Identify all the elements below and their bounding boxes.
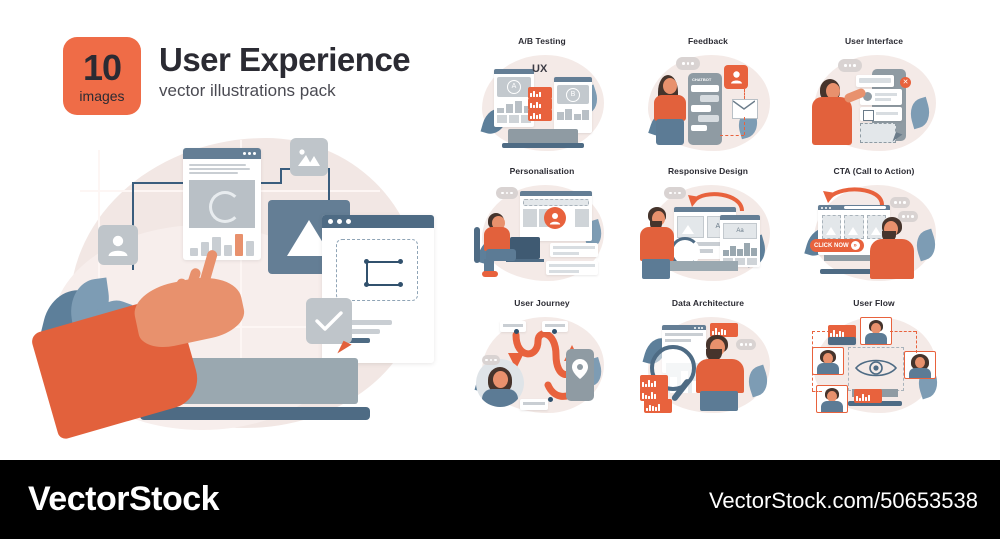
- tile-label: User Journey: [466, 298, 618, 308]
- journey-node-card: [500, 321, 526, 332]
- ux-label: UX: [532, 63, 547, 75]
- laptop-base: [140, 407, 370, 420]
- window-titlebar: [554, 77, 592, 82]
- tile-user-flow[interactable]: User Flow: [798, 298, 950, 420]
- tile-label: User Interface: [798, 36, 950, 46]
- tile-user-interface[interactable]: User Interface: [798, 36, 950, 158]
- person-torso: [640, 227, 674, 261]
- tile-label: Personalisation: [466, 166, 618, 176]
- data-chip: [854, 389, 882, 403]
- person-card: [904, 351, 936, 379]
- wireframe-connector: [366, 261, 400, 263]
- person-torso: [909, 368, 931, 379]
- window-titlebar: [494, 69, 534, 74]
- image-count-badge: 10 images: [63, 37, 141, 115]
- chat-bubble-icon: [482, 355, 500, 365]
- tile-artwork: [798, 313, 950, 417]
- flow-bar: [828, 337, 856, 345]
- connector-line: [812, 331, 813, 391]
- tile-cta[interactable]: CTA (Call to Action): [798, 166, 950, 288]
- person-card: [816, 385, 848, 413]
- person-torso: [696, 359, 744, 393]
- window-titlebar: [183, 148, 261, 159]
- tile-label: Feedback: [632, 36, 784, 46]
- tile-user-journey[interactable]: User Journey: [466, 298, 618, 420]
- chat-phone: CHATBOT: [688, 73, 722, 145]
- tile-responsive-design[interactable]: Responsive Design Aa: [632, 166, 784, 288]
- journey-node: [548, 397, 553, 402]
- tile-artwork: [466, 313, 618, 417]
- eye-icon: [854, 355, 898, 381]
- window-dots-icon: [328, 219, 351, 224]
- person-torso: [484, 227, 510, 251]
- connector-line: [744, 89, 745, 99]
- person-torso: [482, 389, 518, 407]
- window-titlebar: [674, 207, 736, 212]
- tile-artwork: ✕: [798, 51, 950, 155]
- image-icon: [290, 138, 328, 176]
- tile-ab-testing[interactable]: A/B Testing A: [466, 36, 618, 158]
- hero-illustration: [40, 130, 450, 440]
- wireframe-connector: [366, 284, 400, 286]
- ui-profile-row: [860, 89, 902, 105]
- connector-line: [890, 331, 916, 332]
- tile-artwork: CHATBOT: [632, 51, 784, 155]
- window-titlebar: [818, 205, 890, 210]
- chat-bubble-icon: [736, 339, 756, 350]
- person-torso: [817, 363, 839, 375]
- laptop-base: [502, 143, 584, 148]
- notification-card: [550, 243, 598, 257]
- page-subtitle: vector illustrations pack: [159, 81, 410, 101]
- tile-label: User Flow: [798, 298, 950, 308]
- chat-bubble-icon: [676, 57, 700, 70]
- refresh-icon: [209, 191, 241, 223]
- wireframe-node: [364, 259, 369, 264]
- wireframe-dashed-frame: [336, 239, 418, 301]
- chat-bubble-icon: [838, 59, 862, 72]
- tile-artwork: CLICK NOW »: [798, 181, 950, 285]
- hero-analytics-window: [183, 148, 261, 260]
- ui-input-row: [856, 75, 894, 87]
- person-torso: [865, 333, 887, 345]
- user-glyph: [107, 233, 129, 257]
- window-titlebar: [520, 191, 592, 196]
- window-titlebar: [720, 215, 760, 220]
- notification-card: [546, 261, 598, 275]
- window-titlebar: [662, 325, 706, 330]
- wireframe-node: [364, 282, 369, 287]
- person-head: [915, 357, 925, 368]
- badge-label: images: [79, 89, 124, 103]
- chatbot-title: CHATBOT: [688, 73, 722, 82]
- chat-bubble-icon: [898, 211, 918, 222]
- wireframe-node: [398, 282, 403, 287]
- person-head: [493, 371, 508, 388]
- wireframe-node: [398, 259, 403, 264]
- chair-back: [474, 227, 480, 263]
- tile-feedback[interactable]: Feedback CHATBOT: [632, 36, 784, 158]
- tile-label: A/B Testing: [466, 36, 618, 46]
- connector-line: [720, 135, 744, 136]
- hero-connector: [280, 168, 282, 184]
- brand-logo: VectorStock: [28, 480, 219, 519]
- user-avatar-circle: [476, 359, 524, 407]
- cta-button-label: CLICK NOW: [814, 243, 849, 249]
- close-icon: ✕: [900, 77, 911, 88]
- footer-bar: VectorStock VectorStock.com/50653538: [0, 460, 1000, 539]
- laptop-base: [666, 261, 738, 271]
- person-head: [663, 78, 677, 94]
- tile-artwork: Aa Aa: [632, 181, 784, 285]
- check-glyph: [315, 310, 343, 332]
- connector-line: [812, 331, 830, 332]
- journey-node: [552, 329, 557, 334]
- connector-line: [916, 331, 917, 353]
- ui-image-placeholder: [860, 123, 896, 143]
- user-avatar-icon: [544, 207, 566, 229]
- chevron-right-icon: »: [851, 241, 860, 250]
- bar-chart: [183, 232, 261, 256]
- badge-number: 10: [83, 50, 121, 86]
- envelope-icon: [732, 99, 758, 119]
- chat-bubble-icon: [890, 197, 910, 208]
- person-torso: [812, 97, 852, 145]
- user-badge-icon: [724, 65, 748, 89]
- window-dots-icon: [243, 152, 256, 155]
- window-titlebar: [322, 215, 434, 228]
- person-legs: [656, 119, 684, 145]
- person-torso: [870, 239, 914, 279]
- chat-bubble-icon: [496, 187, 518, 199]
- loading-panel: [189, 180, 255, 228]
- checkmark-icon: [306, 298, 352, 344]
- person-card: [812, 347, 844, 375]
- variant-b-screen: B: [554, 77, 592, 133]
- location-pin-icon: [572, 359, 588, 379]
- connector-line: [812, 391, 822, 392]
- tile-label: Responsive Design: [632, 166, 784, 176]
- cta-button[interactable]: CLICK NOW »: [810, 239, 864, 252]
- footer-url: VectorStock.com/50653538: [709, 488, 978, 514]
- tile-label: CTA (Call to Action): [798, 166, 950, 176]
- tile-personalisation[interactable]: Personalisation: [466, 166, 618, 288]
- title-group: User Experience vector illustrations pac…: [159, 37, 410, 101]
- person-legs: [700, 391, 738, 411]
- ui-check-row: [860, 107, 902, 121]
- journey-node: [514, 329, 519, 334]
- window-text-lines: [183, 159, 261, 179]
- user-avatar-icon: [98, 225, 138, 265]
- variant-a-marker: A: [507, 80, 521, 94]
- poster-header: 10 images User Experience vector illustr…: [63, 37, 410, 115]
- person-card: [860, 317, 892, 345]
- tile-label: Data Architecture: [632, 298, 784, 308]
- page-title: User Experience: [159, 43, 410, 78]
- variant-b-marker: B: [566, 88, 580, 102]
- illustration-grid: A/B Testing A: [466, 36, 966, 436]
- tile-artwork: A B: [466, 51, 618, 155]
- data-chip: [528, 109, 552, 121]
- tablet-screen: Aa: [720, 215, 760, 267]
- data-chip: [644, 399, 672, 413]
- connector-line: [744, 117, 745, 135]
- journey-node-card: [520, 399, 548, 410]
- person-shoe: [482, 271, 498, 277]
- tile-artwork: [466, 181, 618, 285]
- image-glyph: [297, 147, 321, 167]
- poster-canvas: 10 images User Experience vector illustr…: [0, 0, 1000, 460]
- chat-bubble-icon: [664, 187, 686, 199]
- tile-data-architecture[interactable]: Data Architecture: [632, 298, 784, 420]
- person-legs: [642, 259, 670, 279]
- person-torso: [654, 95, 686, 121]
- tile-artwork: [632, 313, 784, 417]
- person-torso: [821, 401, 843, 413]
- map-phone: [566, 349, 594, 401]
